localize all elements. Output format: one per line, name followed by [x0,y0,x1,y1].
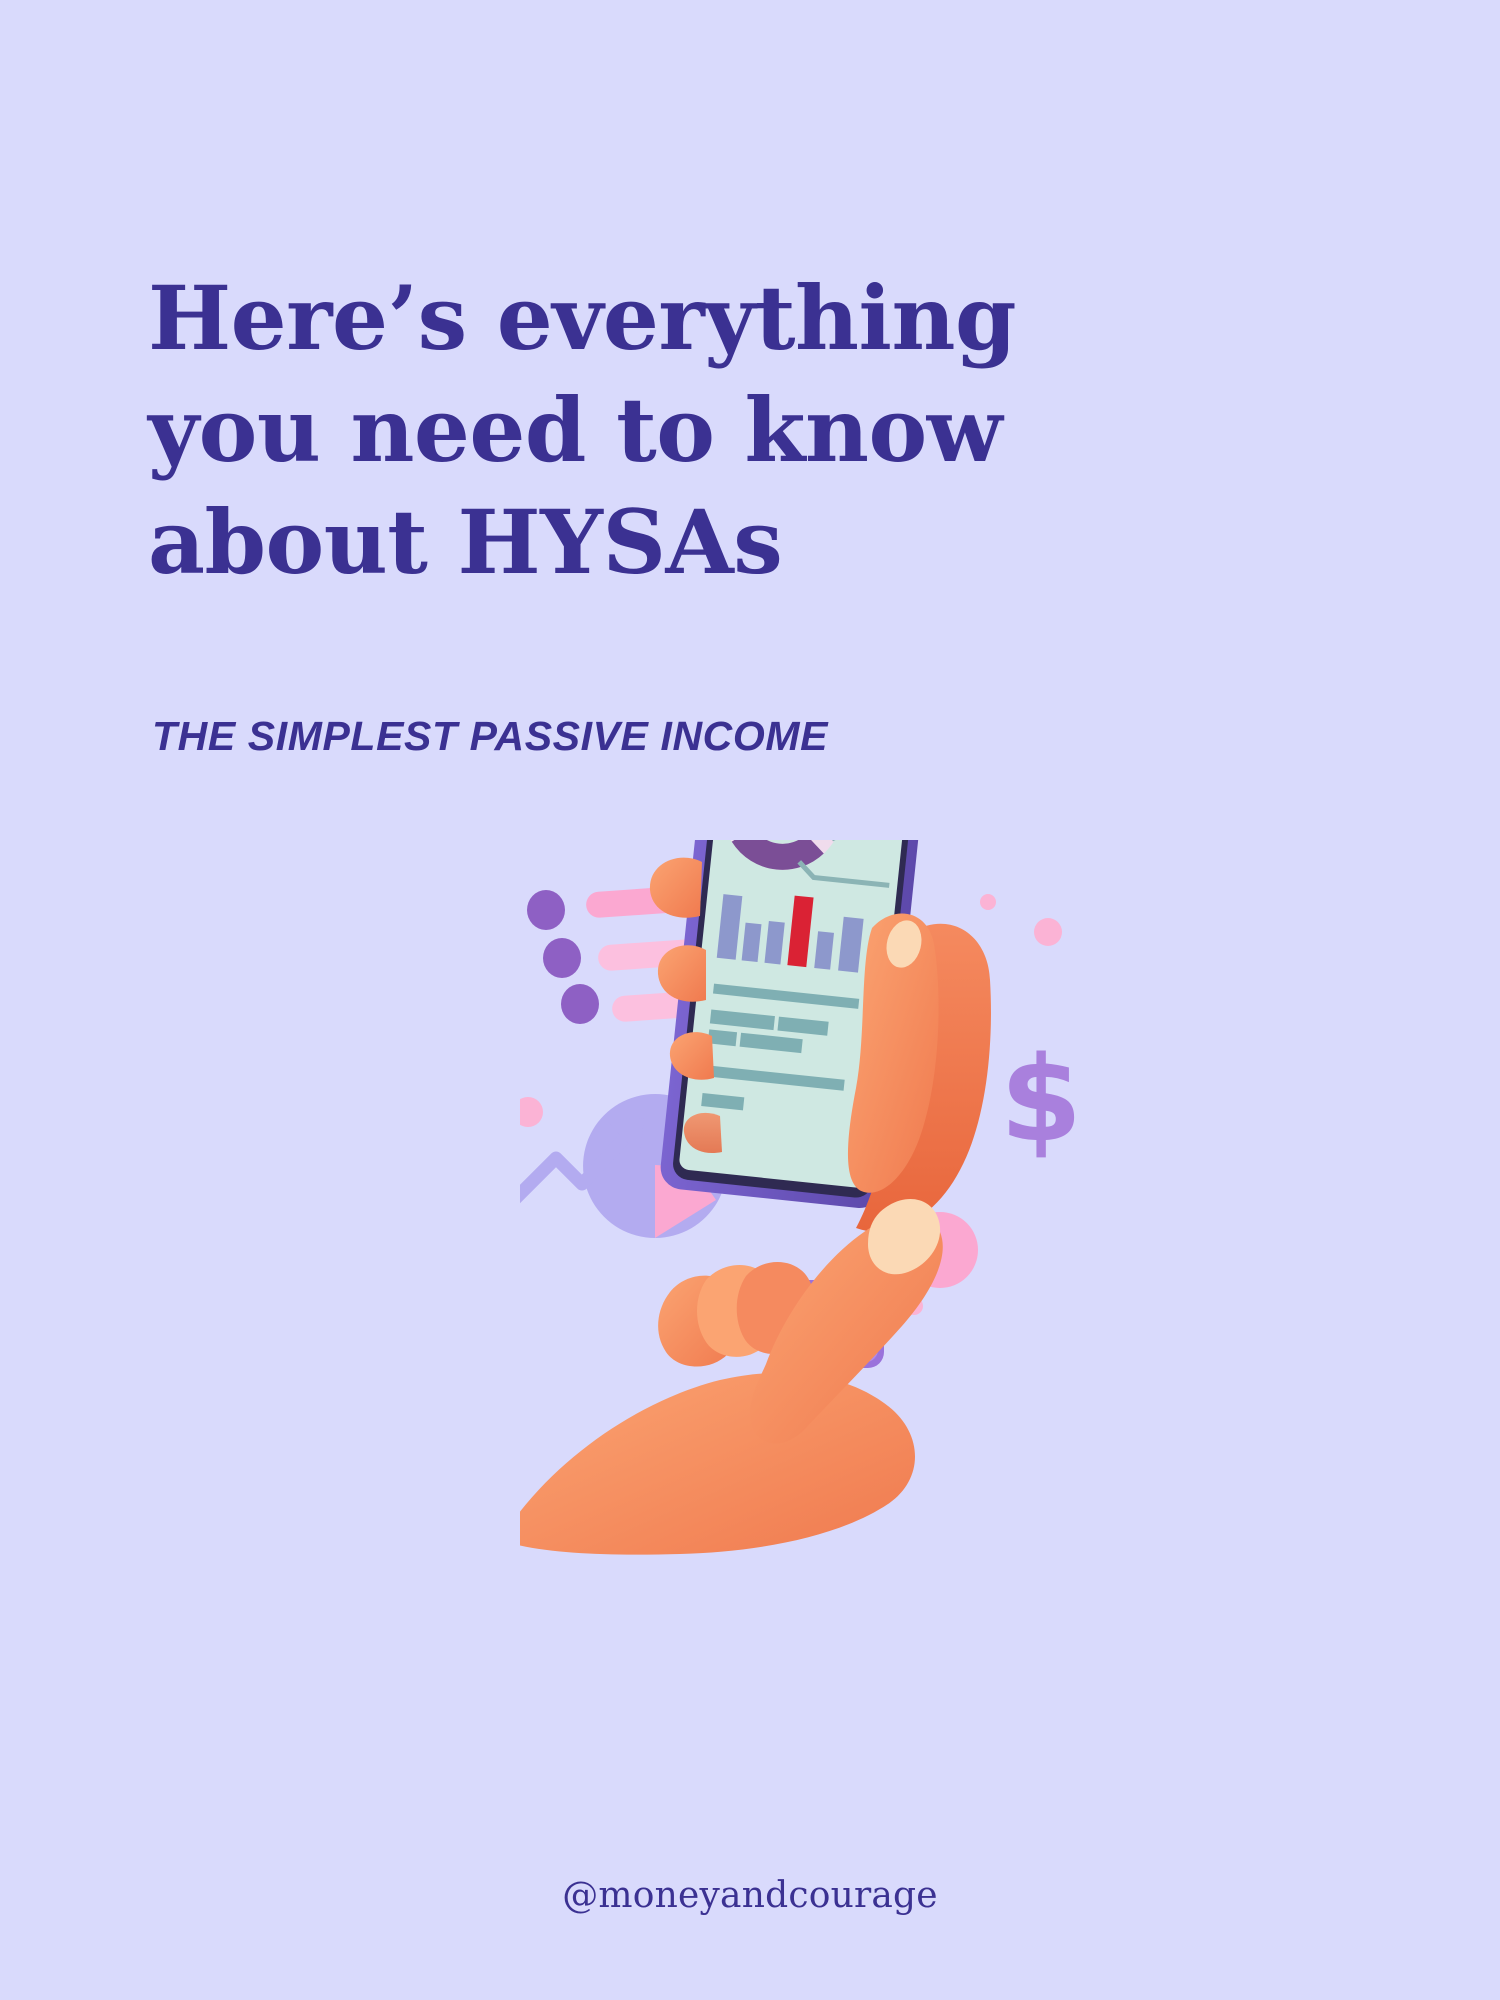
decor-pink-dot-right-upper [1034,918,1062,946]
headline-line-1: Here’s everything [148,262,1158,374]
headline-line-3: about HYSAs [148,486,1158,598]
decor-pink-circle-small [520,1097,543,1127]
subtitle: THE SIMPLEST PASSIVE INCOME [152,713,828,760]
svg-text:$: $ [1000,1030,1082,1168]
poster-canvas: Here’s everything you need to know about… [0,0,1500,2000]
left-hand-pointing [520,1199,943,1555]
footer-handle: @moneyandcourage [0,1875,1500,1916]
hero-illustration: $ [520,840,1380,1560]
page-title: Here’s everything you need to know about… [148,262,1158,598]
decor-dollar-sign-icon: $ [1000,1030,1082,1168]
decor-pink-dot-right [980,894,996,910]
headline-line-2: you need to know [148,374,1158,486]
